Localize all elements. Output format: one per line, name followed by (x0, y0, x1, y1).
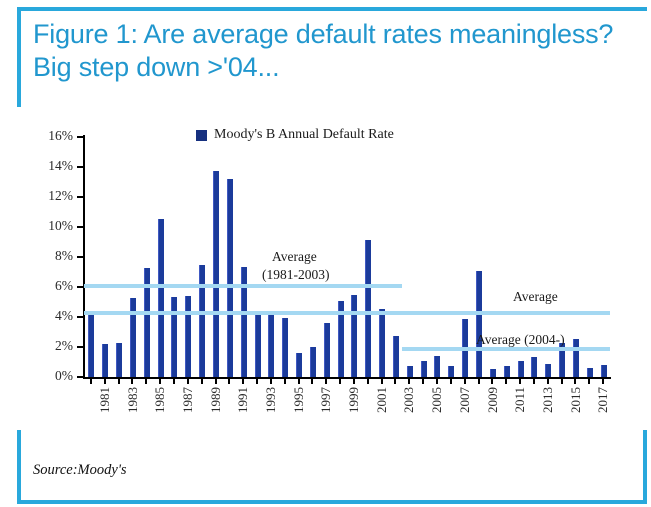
bar (227, 179, 233, 377)
x-axis-tick (215, 377, 217, 384)
bar (573, 339, 579, 377)
bar (213, 171, 219, 377)
bar (476, 271, 482, 378)
x-axis-tick (201, 377, 203, 384)
bar (324, 323, 330, 377)
figure-frame: Figure 1: Are average default rates mean… (0, 0, 651, 507)
x-axis-tick-label: 2001 (374, 387, 390, 413)
x-axis-line (83, 377, 611, 379)
x-axis-tick-label: 2017 (595, 387, 611, 413)
x-axis-tick (159, 377, 161, 384)
bar (130, 298, 136, 378)
x-axis-tick (547, 377, 549, 384)
average-line (84, 284, 402, 288)
x-axis-tick (173, 377, 175, 384)
x-axis-tick (408, 377, 410, 384)
bar (171, 297, 177, 377)
x-axis-tick (436, 377, 438, 384)
x-axis-tick (450, 377, 452, 384)
bar (393, 336, 399, 377)
x-axis-tick (298, 377, 300, 384)
x-axis-tick-label: 1995 (291, 387, 307, 413)
y-axis-tick-label: 0% (55, 368, 73, 384)
x-axis-tick (464, 377, 466, 384)
average-line (84, 311, 610, 315)
legend-swatch-icon (196, 130, 207, 141)
y-axis-tick-label: 12% (48, 188, 73, 204)
legend-label: Moody's B Annual Default Rate (214, 127, 394, 143)
x-axis-tick (367, 377, 369, 384)
x-axis-tick-label: 1985 (152, 387, 168, 413)
y-axis-tick (77, 256, 84, 258)
bar (116, 343, 122, 377)
left-lower-accent-rule (17, 430, 21, 504)
x-axis-tick (561, 377, 563, 384)
x-axis-tick-label: 1997 (318, 387, 334, 413)
average-1981-2003-label-line2: (1981-2003) (262, 267, 330, 283)
y-axis-tick (77, 376, 84, 378)
x-axis-tick-label: 1983 (125, 387, 141, 413)
bar (518, 361, 524, 378)
bar (282, 318, 288, 377)
bottom-accent-rule (17, 500, 647, 504)
bar (158, 219, 164, 377)
figure-title: Figure 1: Are average default rates mean… (33, 18, 633, 84)
x-axis-tick-label: 1989 (208, 387, 224, 413)
chart-area: Moody's B Annual Default Rate 16%14%12%1… (0, 125, 651, 435)
bar (545, 364, 551, 377)
x-axis-tick (228, 377, 230, 384)
x-axis-tick (256, 377, 258, 384)
x-axis-tick-label: 2015 (568, 387, 584, 413)
x-axis-tick (381, 377, 383, 384)
bar (379, 309, 385, 377)
bar (255, 313, 261, 377)
chart-legend: Moody's B Annual Default Rate (196, 127, 394, 143)
x-axis-tick (90, 377, 92, 384)
y-axis-tick-label: 14% (48, 158, 73, 174)
y-axis-tick (77, 316, 84, 318)
x-axis-tick (284, 377, 286, 384)
x-axis-tick (270, 377, 272, 384)
bar (88, 313, 94, 378)
y-axis-labels: 16%14%12%10%8%6%4%2%0% (0, 125, 73, 385)
x-axis-tick-label: 1987 (180, 387, 196, 413)
y-axis-tick (77, 136, 84, 138)
bar (102, 344, 108, 377)
bar (434, 356, 440, 377)
bar (601, 365, 607, 377)
x-axis-tick (104, 377, 106, 384)
y-axis-tick (77, 196, 84, 198)
x-axis-tick (422, 377, 424, 384)
x-axis-tick (394, 377, 396, 384)
y-axis-tick (77, 166, 84, 168)
bar (296, 353, 302, 377)
bar (185, 296, 191, 377)
x-axis-tick-label: 2003 (401, 387, 417, 413)
bar (490, 369, 496, 377)
average-2004-label: Average (2004-) (476, 332, 565, 348)
x-axis-tick (353, 377, 355, 384)
x-axis-tick (574, 377, 576, 384)
average-overall-label: Average (513, 289, 558, 305)
x-axis-tick (118, 377, 120, 384)
x-axis-tick-label: 2005 (429, 387, 445, 413)
y-axis-tick-label: 6% (55, 278, 73, 294)
right-lower-accent-rule (643, 430, 647, 504)
x-axis-tick (145, 377, 147, 384)
source-note: Source:Moody's (33, 462, 127, 479)
x-axis-tick-label: 2011 (512, 387, 528, 413)
x-axis-tick (602, 377, 604, 384)
x-axis-tick (339, 377, 341, 384)
bar (310, 347, 316, 377)
x-axis-tick (491, 377, 493, 384)
x-axis-tick (519, 377, 521, 384)
bar (421, 361, 427, 377)
x-axis-tick (588, 377, 590, 384)
average-1981-2003-label-line1: Average (272, 249, 317, 265)
top-accent-rule (17, 7, 647, 11)
bar (351, 295, 357, 378)
bar (365, 240, 371, 377)
x-axis-tick-label: 2013 (540, 387, 556, 413)
bar (268, 313, 274, 378)
bar (448, 366, 454, 377)
y-axis-tick-label: 8% (55, 248, 73, 264)
bar (504, 366, 510, 377)
y-axis-tick-label: 10% (48, 218, 73, 234)
y-axis-tick (77, 226, 84, 228)
x-axis-tick (325, 377, 327, 384)
x-axis-tick-label: 1981 (97, 387, 113, 413)
x-axis-tick (242, 377, 244, 384)
x-axis-tick-label: 2007 (457, 387, 473, 413)
x-axis-tick (478, 377, 480, 384)
left-accent-rule (17, 7, 21, 107)
y-axis-tick-label: 2% (55, 338, 73, 354)
y-axis-tick-label: 16% (48, 128, 73, 144)
x-axis-tick-label: 1993 (263, 387, 279, 413)
x-axis-tick (187, 377, 189, 384)
x-axis-tick (311, 377, 313, 384)
x-axis-tick-label: 1999 (346, 387, 362, 413)
x-axis-tick-label: 2009 (485, 387, 501, 413)
x-axis-tick-label: 1991 (235, 387, 251, 413)
bar (587, 368, 593, 377)
x-axis-tick (533, 377, 535, 384)
x-axis-tick (131, 377, 133, 384)
y-axis-tick (77, 346, 84, 348)
x-axis-tick (505, 377, 507, 384)
y-axis-tick (77, 286, 84, 288)
bar (407, 366, 413, 377)
bar (199, 265, 205, 378)
bar (531, 357, 537, 377)
y-axis-tick-label: 4% (55, 308, 73, 324)
